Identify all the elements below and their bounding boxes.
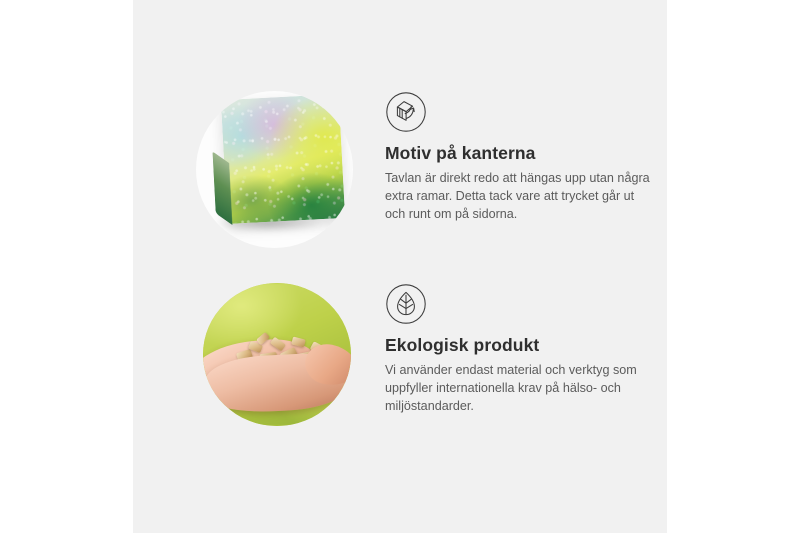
wood-chip bbox=[291, 337, 306, 348]
infographic-stage: Motiv på kanterna Tavlan är direkt redo … bbox=[0, 0, 800, 533]
feature-copy-edges: Motiv på kanterna Tavlan är direkt redo … bbox=[385, 91, 665, 224]
infographic-panel: Motiv på kanterna Tavlan är direkt redo … bbox=[133, 0, 667, 533]
canvas-wrapped-edge-icon bbox=[385, 91, 427, 133]
feature-title-eco: Ekologisk produkt bbox=[385, 335, 665, 356]
feature-copy-eco: Ekologisk produkt Vi använder endast mat… bbox=[385, 283, 665, 416]
feature-title-edges: Motiv på kanterna bbox=[385, 143, 665, 164]
leaf-icon bbox=[385, 283, 427, 325]
wood-chip bbox=[256, 332, 270, 345]
hands-holding-wood-chips-photo bbox=[203, 283, 351, 426]
canvas-artwork bbox=[221, 94, 345, 224]
canvas-print-corner-photo bbox=[196, 91, 353, 248]
canvas-wrapped-side bbox=[213, 151, 233, 225]
feature-description-eco: Vi använder endast material och verktyg … bbox=[385, 362, 653, 416]
wood-chip bbox=[270, 337, 286, 352]
feature-description-edges: Tavlan är direkt redo att hängas upp uta… bbox=[385, 170, 653, 224]
